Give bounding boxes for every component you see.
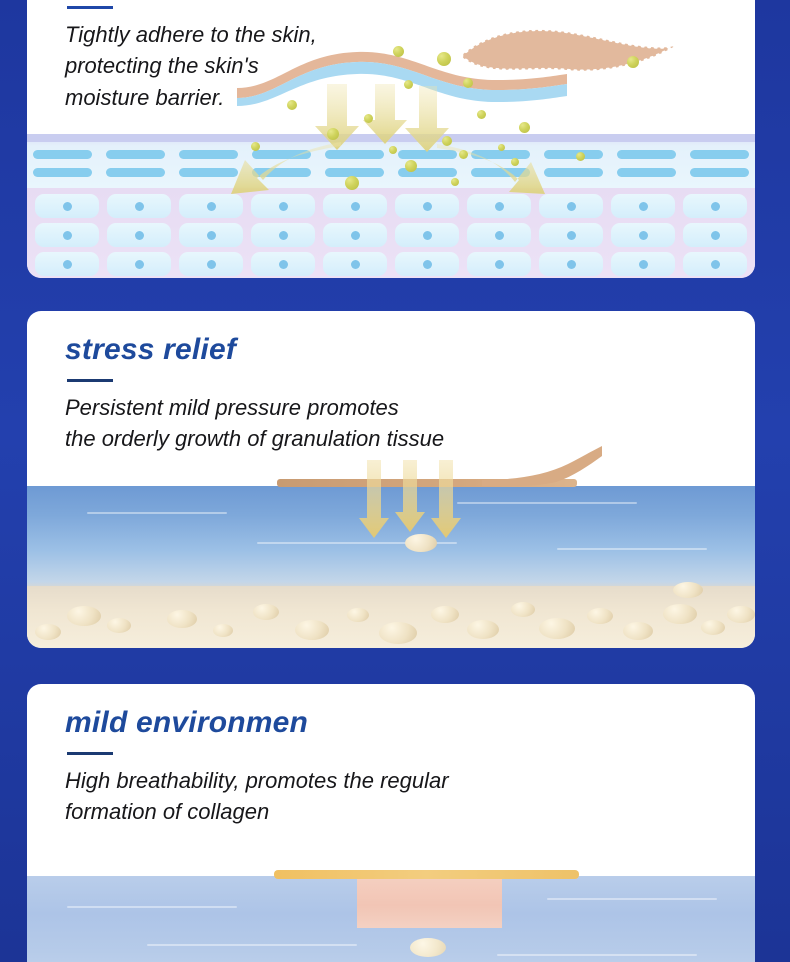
cell-nucleus — [135, 260, 144, 269]
skin-cell — [107, 223, 171, 247]
collagen-panel — [357, 878, 502, 928]
card-3-illustration — [27, 876, 755, 962]
skin-cell — [539, 252, 603, 276]
skin-cell — [467, 252, 531, 276]
cell-nucleus — [351, 231, 360, 240]
granule — [379, 622, 417, 644]
skin-cell — [539, 194, 603, 218]
granule — [539, 618, 575, 639]
skin-cell — [395, 252, 459, 276]
granule — [213, 624, 233, 637]
lipid-cell — [33, 168, 92, 177]
skin-cell — [323, 252, 387, 276]
cell-row — [35, 194, 747, 218]
card-1-title-rule — [67, 6, 113, 9]
moisture-bead — [389, 146, 397, 154]
lipid-cell — [617, 168, 676, 177]
cell-nucleus — [567, 231, 576, 240]
skin-cell — [539, 223, 603, 247]
card-1-body-text: Tightly adhere to the skin, protecting t… — [65, 19, 755, 114]
water-streak — [557, 548, 707, 550]
granule — [431, 606, 459, 623]
cell-nucleus — [495, 202, 504, 211]
skin-cell — [395, 194, 459, 218]
skin-cell — [683, 223, 747, 247]
cell-nucleus — [711, 202, 720, 211]
granule — [467, 620, 499, 639]
skin-cell — [251, 252, 315, 276]
granule — [511, 602, 535, 617]
feature-card-stress-relief: stress relief Persistent mild pressure p… — [27, 311, 755, 648]
cell-nucleus — [207, 231, 216, 240]
cell-nucleus — [495, 231, 504, 240]
moisture-bead — [327, 128, 339, 140]
cell-nucleus — [711, 231, 720, 240]
moisture-bead — [498, 144, 505, 151]
cell-nucleus — [567, 202, 576, 211]
lipid-cell — [106, 150, 165, 159]
suspended-bubble — [410, 938, 446, 957]
lipid-cell — [106, 168, 165, 177]
water-streak — [497, 954, 697, 956]
cell-nucleus — [207, 260, 216, 269]
cell-nucleus — [351, 202, 360, 211]
skin-cell — [611, 252, 675, 276]
skin-cell — [251, 223, 315, 247]
skin-cell — [395, 223, 459, 247]
cell-nucleus — [279, 260, 288, 269]
card-3-title-rule — [67, 752, 113, 755]
cell-nucleus — [495, 260, 504, 269]
granule — [35, 624, 61, 640]
cell-row — [35, 252, 747, 276]
granule — [701, 620, 725, 635]
card-3-title: mild environmen — [65, 706, 755, 740]
cell-nucleus — [63, 260, 72, 269]
skin-cell — [35, 252, 99, 276]
lipid-cell — [690, 150, 749, 159]
moisture-bead — [451, 178, 459, 186]
skin-cell — [35, 223, 99, 247]
lipid-cell — [617, 150, 676, 159]
breathable-dressing-bar — [274, 870, 579, 879]
feature-card-mild-environment: mild environmen High breathability, prom… — [27, 684, 755, 962]
granule — [347, 608, 369, 622]
skin-cell — [467, 223, 531, 247]
cell-nucleus — [207, 202, 216, 211]
cell-nucleus — [135, 231, 144, 240]
cell-nucleus — [567, 260, 576, 269]
skin-cell — [179, 252, 243, 276]
cell-nucleus — [711, 260, 720, 269]
skin-cell — [179, 194, 243, 218]
cell-nucleus — [279, 231, 288, 240]
granule — [295, 620, 329, 640]
granule — [663, 604, 697, 624]
skin-cell — [611, 194, 675, 218]
card-2-title-rule — [67, 379, 113, 382]
skin-cell — [323, 223, 387, 247]
product-feature-page: warm and moist environment Tightly adher… — [0, 0, 790, 962]
card-1-content: warm and moist environment Tightly adher… — [27, 0, 755, 114]
card-3-content: mild environmen High breathability, prom… — [27, 684, 755, 828]
moisture-bead — [442, 136, 452, 146]
card-2-content: stress relief Persistent mild pressure p… — [27, 311, 755, 455]
granule — [253, 604, 279, 620]
moisture-bead — [405, 160, 417, 172]
cell-nucleus — [135, 202, 144, 211]
card-2-body-text: Persistent mild pressure promotes the or… — [65, 392, 755, 455]
cell-nucleus — [279, 202, 288, 211]
skin-cell — [107, 252, 171, 276]
water-streak — [147, 944, 357, 946]
water-streak — [547, 898, 717, 900]
card-3-body-text: High breathability, promotes the regular… — [65, 765, 755, 828]
lipid-cell — [690, 168, 749, 177]
skin-cell — [683, 252, 747, 276]
water-streak — [87, 512, 227, 514]
cell-row — [35, 223, 747, 247]
lipid-cell — [33, 150, 92, 159]
cell-nucleus — [423, 202, 432, 211]
skin-cell — [611, 223, 675, 247]
water-streak — [67, 906, 237, 908]
card-2-title: stress relief — [65, 333, 755, 367]
cell-nucleus — [639, 202, 648, 211]
dermal-cell-grid — [35, 194, 747, 276]
cell-nucleus — [351, 260, 360, 269]
granule — [587, 608, 613, 624]
granule — [623, 622, 653, 640]
card-2-illustration — [27, 486, 755, 648]
granule — [107, 618, 131, 633]
pressure-arrows-icon — [357, 460, 477, 550]
granule — [673, 582, 703, 598]
cell-nucleus — [63, 231, 72, 240]
cell-nucleus — [639, 231, 648, 240]
skin-cell — [35, 194, 99, 218]
moisture-bead — [459, 150, 468, 159]
water-streak — [457, 502, 637, 504]
feature-card-warm-and-moist-environment: warm and moist environment Tightly adher… — [27, 0, 755, 278]
cell-nucleus — [423, 260, 432, 269]
cell-nucleus — [423, 231, 432, 240]
moisture-bead — [364, 114, 373, 123]
cell-nucleus — [639, 260, 648, 269]
granule — [167, 610, 197, 628]
card-1-illustration — [27, 98, 755, 278]
moisture-bead — [511, 158, 519, 166]
skin-cell — [251, 194, 315, 218]
moisture-bead — [576, 152, 585, 161]
moisture-bead — [251, 142, 260, 151]
skin-cell — [179, 223, 243, 247]
skin-cell — [683, 194, 747, 218]
moisture-bead — [345, 176, 359, 190]
granule — [67, 606, 101, 626]
granule — [727, 606, 755, 623]
moisture-bead — [519, 122, 530, 133]
cell-nucleus — [63, 202, 72, 211]
skin-cell — [323, 194, 387, 218]
skin-cell — [467, 194, 531, 218]
skin-cell — [107, 194, 171, 218]
